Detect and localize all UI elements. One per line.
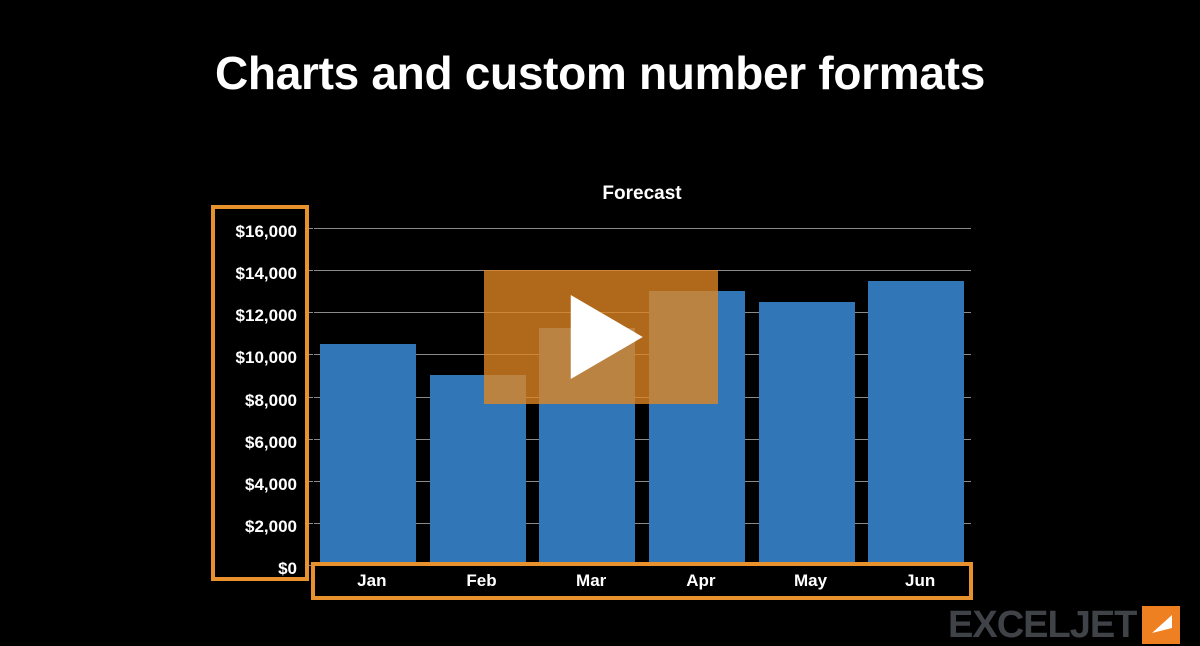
y-axis-label: $8,000 — [245, 391, 297, 411]
x-axis-labels-highlight: JanFebMarAprMayJun — [311, 562, 973, 600]
exceljet-arrow-icon — [1142, 606, 1180, 644]
forecast-chart: Forecast $16,000$14,000$12,000$10,000$8,… — [0, 0, 1200, 630]
y-axis-labels-highlight: $16,000$14,000$12,000$10,000$8,000$6,000… — [211, 205, 309, 581]
x-axis-label-may: May — [794, 571, 827, 591]
y-axis-label: $0 — [278, 559, 297, 579]
bar-jan — [320, 344, 416, 565]
x-axis-label-mar: Mar — [576, 571, 606, 591]
y-axis-label: $2,000 — [245, 517, 297, 537]
exceljet-logo-text: EXCELJET — [948, 606, 1136, 644]
x-axis-label-jan: Jan — [357, 571, 386, 591]
y-axis-label: $12,000 — [236, 306, 297, 326]
chart-title: Forecast — [313, 183, 971, 205]
video-play-overlay[interactable] — [484, 270, 718, 404]
exceljet-logo: EXCELJET — [948, 606, 1180, 644]
bar-jun — [868, 281, 964, 565]
play-triangle-icon[interactable] — [571, 295, 643, 379]
x-axis-label-apr: Apr — [686, 571, 715, 591]
y-axis-label: $6,000 — [245, 433, 297, 453]
bar-may — [759, 302, 855, 565]
y-axis-label: $4,000 — [245, 475, 297, 495]
x-axis-label-jun: Jun — [905, 571, 935, 591]
y-axis-label: $10,000 — [236, 348, 297, 368]
y-axis-label: $14,000 — [236, 264, 297, 284]
x-axis-label-feb: Feb — [466, 571, 496, 591]
y-axis-label: $16,000 — [236, 222, 297, 242]
